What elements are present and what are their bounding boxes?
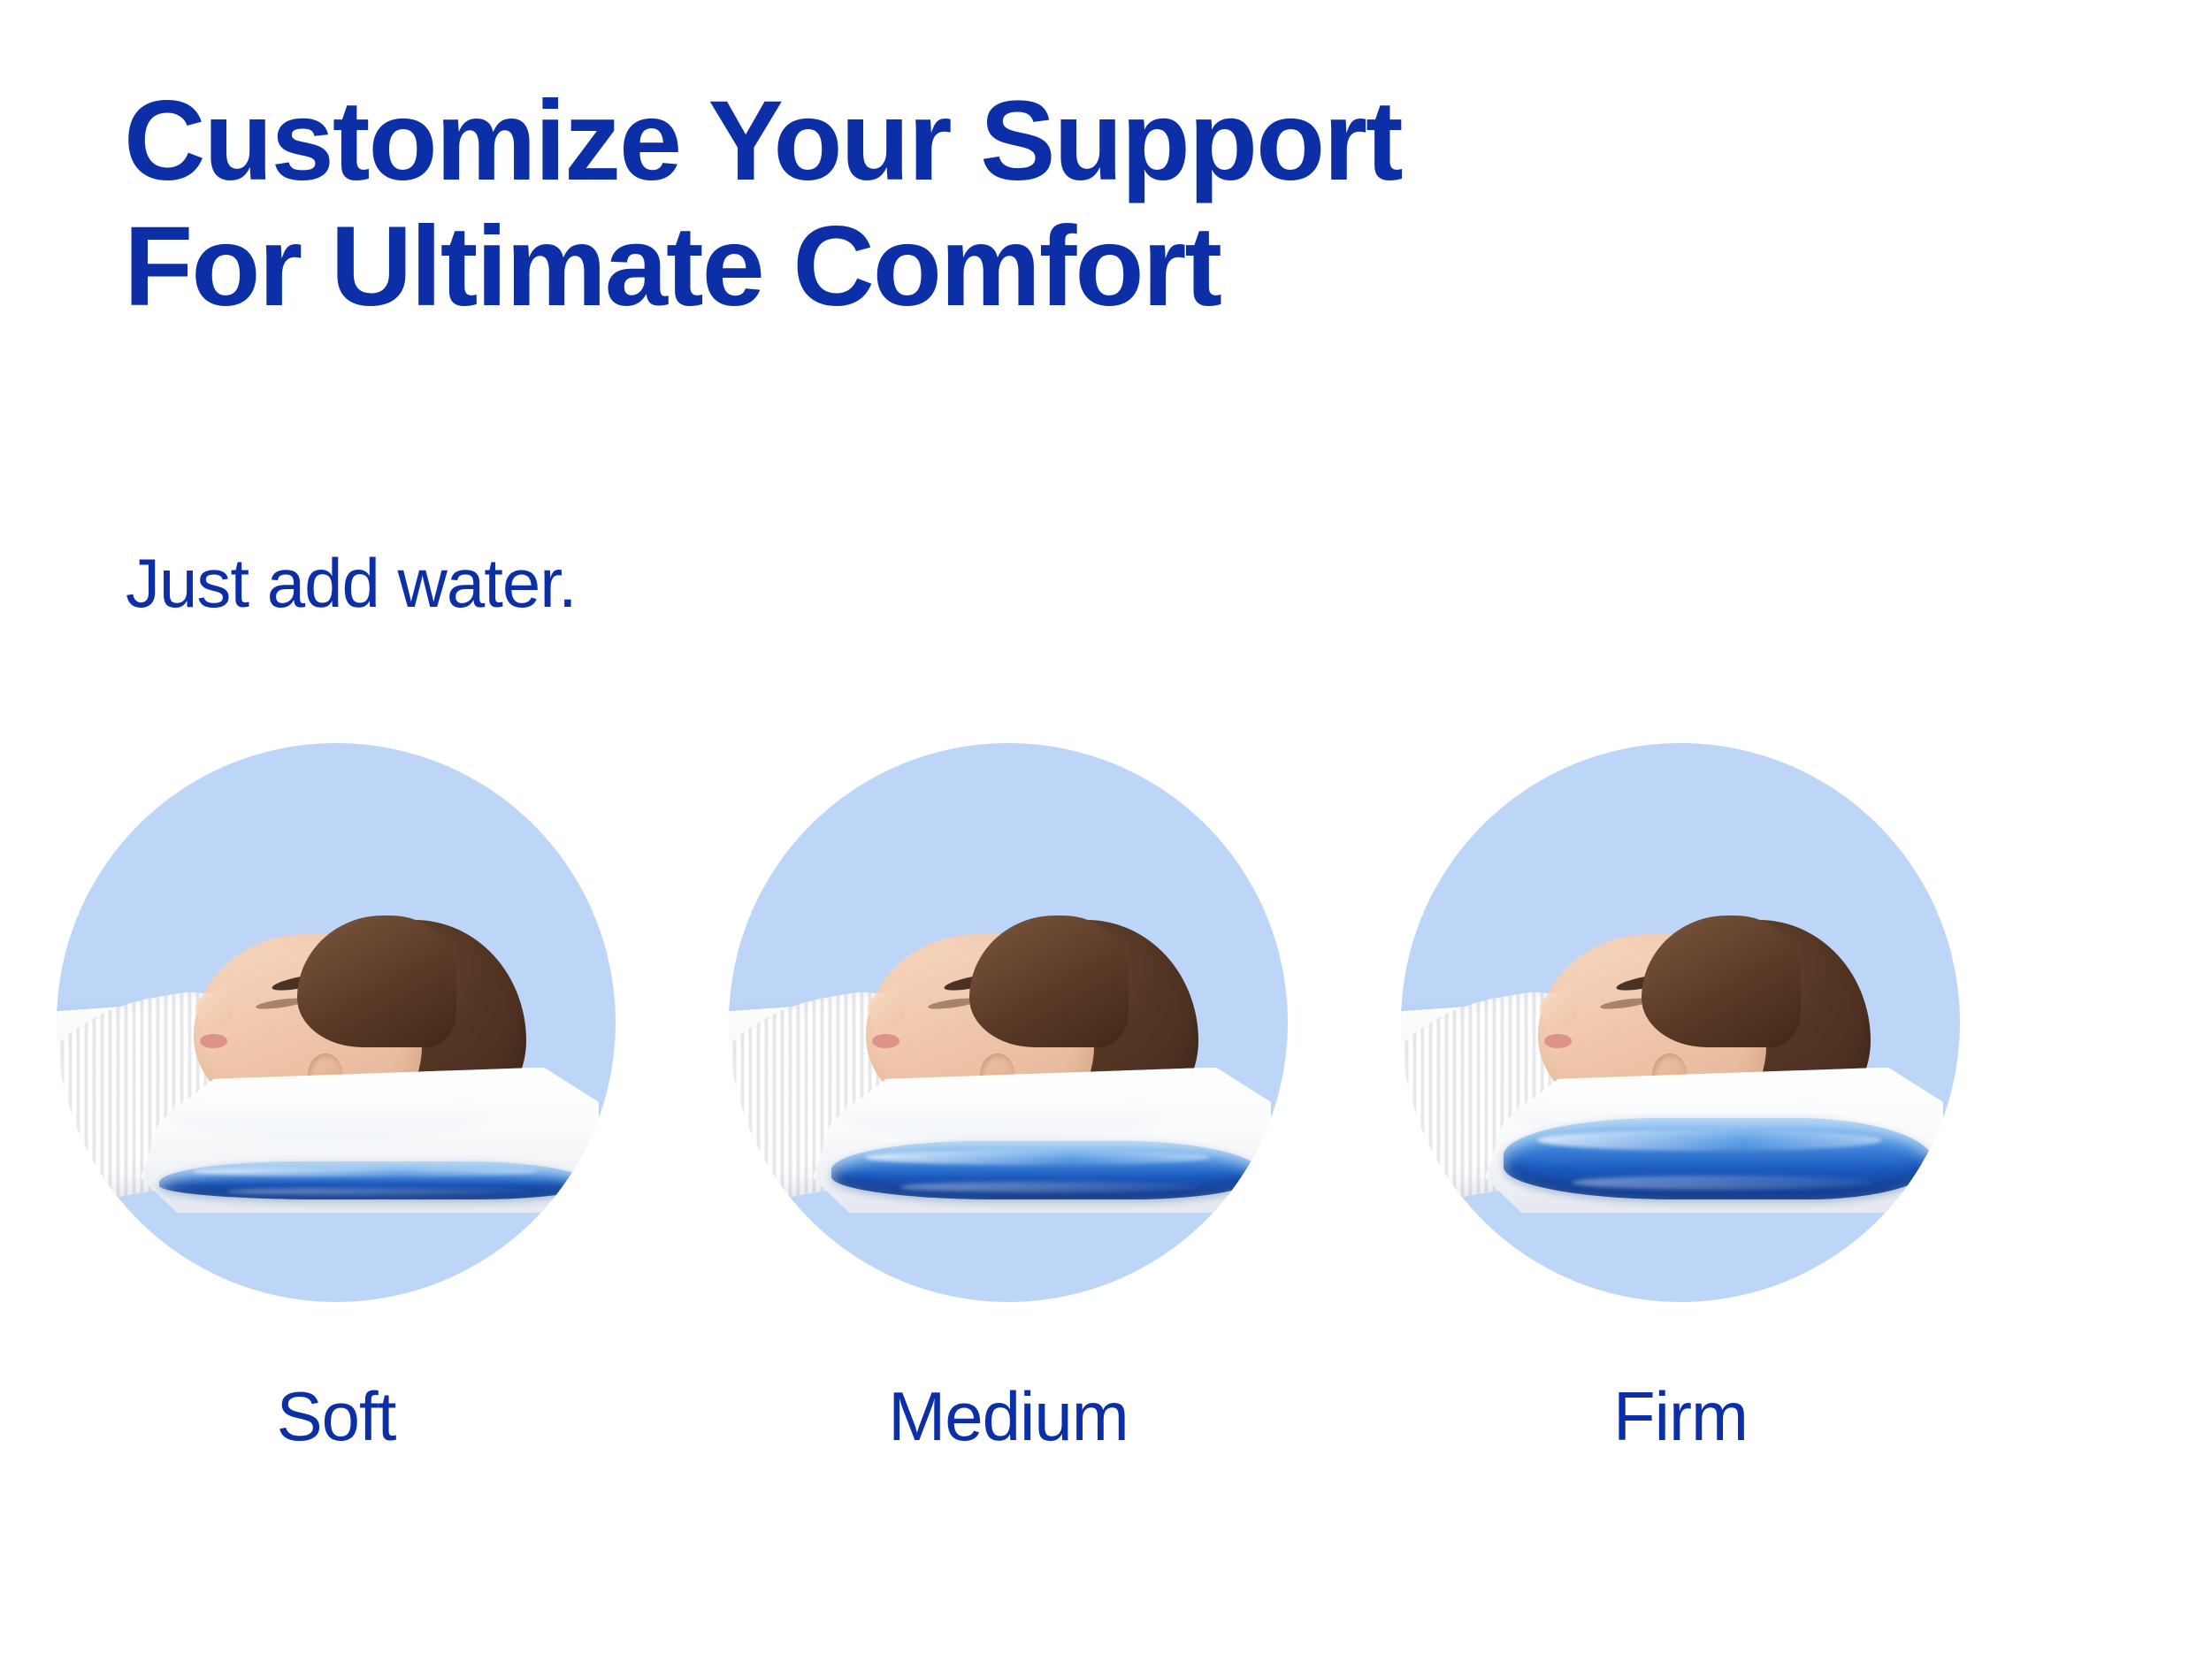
- pillow-scene-medium: [729, 743, 1288, 1302]
- pillow-contour-highlight: [840, 1088, 1161, 1140]
- headline-block: Customize Your Support For Ultimate Comf…: [124, 85, 1893, 336]
- firmness-image-firm: [1401, 743, 1960, 1302]
- water-pillow-firm: [1485, 1068, 1943, 1213]
- headline-line-1: Customize Your Support: [124, 85, 1893, 198]
- firmness-label-medium: Medium: [888, 1382, 1128, 1451]
- firmness-card-firm[interactable]: Firm: [1344, 743, 2017, 1451]
- firmness-label-soft: Soft: [277, 1382, 396, 1451]
- firmness-options-row: Soft: [0, 743, 2212, 1451]
- nose: [195, 992, 232, 1024]
- firmness-label-firm: Firm: [1613, 1382, 1748, 1451]
- lips: [872, 1034, 899, 1047]
- water-bladder-soft: [159, 1161, 590, 1199]
- water-pillow-medium: [813, 1068, 1271, 1213]
- pillow-scene-firm: [1401, 743, 1960, 1302]
- nose: [868, 992, 904, 1024]
- lips: [200, 1034, 227, 1047]
- subtitle-just-add-water: Just add water.: [126, 548, 577, 617]
- lips: [1544, 1034, 1572, 1047]
- headline-line-2: For Ultimate Comfort: [124, 211, 1893, 324]
- firmness-card-soft[interactable]: Soft: [0, 743, 672, 1451]
- firmness-image-medium: [729, 743, 1288, 1302]
- firmness-card-medium[interactable]: Medium: [672, 743, 1344, 1451]
- water-bladder-medium: [831, 1141, 1262, 1199]
- water-bladder-firm: [1504, 1118, 1934, 1199]
- pillow-scene-soft: [57, 743, 616, 1302]
- pillow-contour-highlight: [168, 1088, 489, 1140]
- water-pillow-soft: [141, 1068, 599, 1213]
- nose: [1540, 992, 1576, 1024]
- firmness-image-soft: [57, 743, 616, 1302]
